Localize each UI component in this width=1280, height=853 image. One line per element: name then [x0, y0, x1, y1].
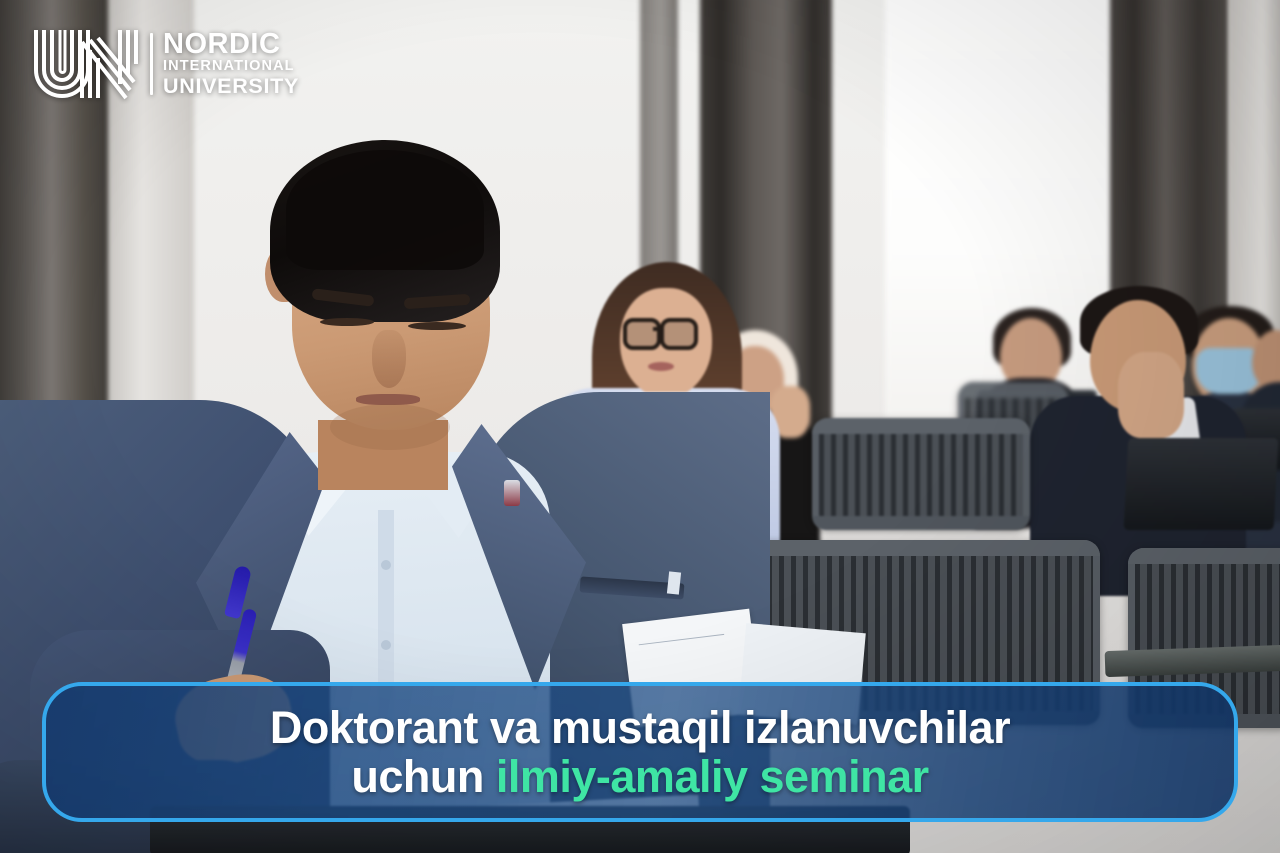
- eyeglasses-bridge: [653, 327, 663, 331]
- caption-line-2: uchun ilmiy-amaliy seminar: [351, 752, 928, 802]
- chair-back: [812, 418, 1030, 530]
- nose: [372, 330, 406, 388]
- logo-line-international: INTERNATIONAL: [163, 58, 299, 75]
- caption-line-2-prefix: uchun: [351, 751, 495, 802]
- logo-wordmark: NORDIC INTERNATIONAL UNIVERSITY: [163, 30, 299, 98]
- caption-line-1: Doktorant va mustaqil izlanuvchilar: [270, 703, 1010, 753]
- un-monogram-icon: [30, 28, 140, 100]
- caption-banner: Doktorant va mustaqil izlanuvchilar uchu…: [42, 682, 1238, 822]
- eye: [408, 322, 466, 330]
- hair-highlight: [286, 150, 484, 270]
- pocket-square: [667, 571, 681, 594]
- logo-line-university: UNIVERSITY: [163, 75, 299, 98]
- nordic-university-logo: NORDIC INTERNATIONAL UNIVERSITY: [30, 28, 299, 100]
- lapel-pin: [504, 480, 520, 506]
- logo-divider: [150, 33, 153, 95]
- attendee-hand: [1118, 352, 1184, 438]
- laptop: [1124, 438, 1279, 530]
- shirt-button: [381, 560, 391, 570]
- shirt-button: [381, 640, 391, 650]
- chin: [330, 404, 450, 450]
- caption-line-2-accent: ilmiy-amaliy seminar: [496, 751, 929, 802]
- eyeglasses-icon: [660, 318, 698, 350]
- lips: [648, 362, 674, 371]
- eye: [320, 318, 374, 326]
- eyeglasses-icon: [623, 318, 661, 350]
- logo-line-nordic: NORDIC: [163, 30, 299, 58]
- screenshot-root: NORDIC INTERNATIONAL UNIVERSITY Doktoran…: [0, 0, 1280, 853]
